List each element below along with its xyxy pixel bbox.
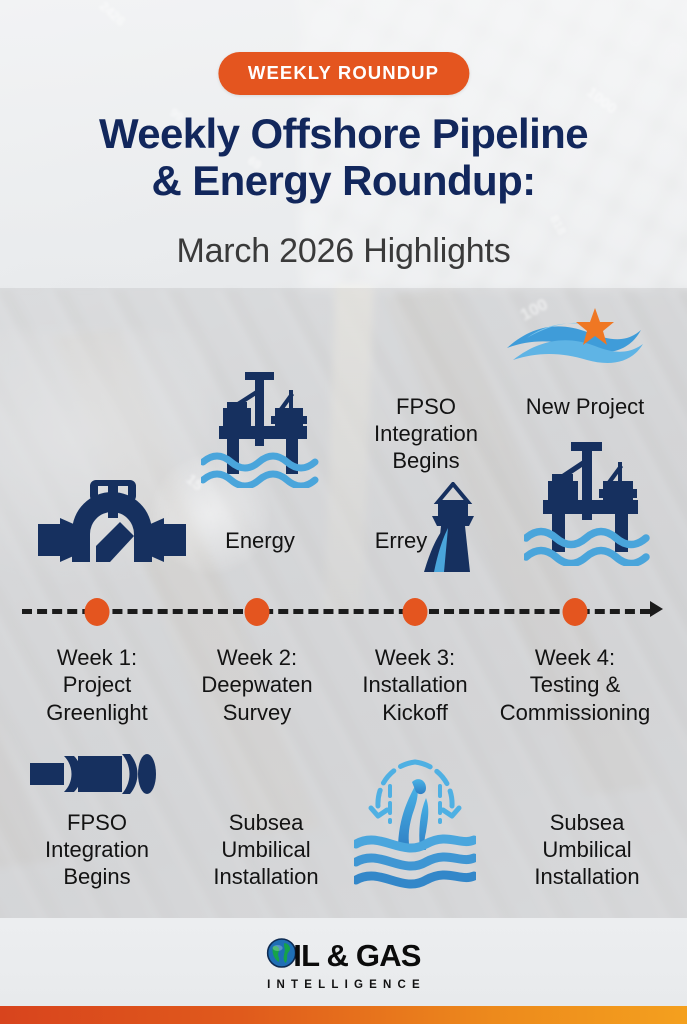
page-subtitle: March 2026 Highlights <box>0 232 687 271</box>
bottom-label-line: Subsea <box>500 810 674 837</box>
caption-fpso-line-3: Begins <box>352 448 500 475</box>
timeline-label-line: Kickoff <box>328 699 503 726</box>
bottom-row: FPSOIntegrationBeginsSubseaUmbilicalInst… <box>0 740 687 920</box>
offshore-rig-icon-2 <box>524 440 656 571</box>
timeline-label-3: Week 3:InstallationKickoff <box>328 644 503 726</box>
timeline-label-line: Deepwaten <box>170 671 345 698</box>
logo-subtext: INTELLIGENCE <box>267 979 426 991</box>
timeline-label-line: Week 3: <box>328 644 503 671</box>
pipe-section-icon <box>30 750 156 803</box>
brand-logo: IL & GAS INTELLIGENCE <box>261 938 426 991</box>
caption-fpso-integration-begins: FPSO Integration Begins <box>352 394 500 474</box>
timeline-label-line: Greenlight <box>10 699 185 726</box>
icon-stage: Energy FPSO Integration Begins Errey New… <box>0 288 687 608</box>
timeline-label-2: Week 2:DeepwatenSurvey <box>170 644 345 726</box>
infographic-poster: 10010002426996981815 WEEKLY ROUNDUP Week… <box>0 0 687 1024</box>
timeline-dot-2[interactable] <box>245 598 270 626</box>
page-title-line-1: Weekly Offshore Pipeline <box>24 110 663 157</box>
header: WEEKLY ROUNDUP Weekly Offshore Pipeline … <box>0 0 687 288</box>
caption-fpso-line-1: FPSO <box>352 394 500 421</box>
timeline-arrow-icon <box>650 601 663 617</box>
waves-starfish-icon <box>503 304 645 371</box>
caption-fpso-line-2: Integration <box>352 421 500 448</box>
timeline-dot-3[interactable] <box>403 598 428 626</box>
timeline-dashed-line <box>22 609 650 614</box>
caption-energy: Energy <box>190 528 330 555</box>
bottom-label-line: Subsea <box>179 810 353 837</box>
globe-icon <box>266 938 296 973</box>
timeline-label-line: Week 1: <box>10 644 185 671</box>
timeline-label-line: Installation <box>328 671 503 698</box>
caption-errey: Errey <box>358 528 444 555</box>
subsea-riser-waves-icon <box>354 746 476 899</box>
bottom-label-line: Umbilical <box>500 837 674 864</box>
timeline-labels: Week 1:ProjectGreenlightWeek 2:Deepwaten… <box>0 644 687 734</box>
bottom-label-4: SubseaUmbilicalInstallation <box>500 810 674 890</box>
bottom-label-line: FPSO <box>10 810 184 837</box>
footer: IL & GAS INTELLIGENCE <box>0 918 687 1006</box>
footer-accent-bar <box>0 1006 687 1024</box>
bottom-label-line: Begins <box>10 864 184 891</box>
logo-text: IL & GAS <box>293 940 420 971</box>
timeline-label-4: Week 4:Testing &Commissioning <box>488 644 663 726</box>
timeline-dot-1[interactable] <box>85 598 110 626</box>
bottom-label-line: Installation <box>500 864 674 891</box>
timeline-label-line: Commissioning <box>488 699 663 726</box>
bottom-label-1: FPSOIntegrationBegins <box>10 810 184 890</box>
timeline-label-line: Testing & <box>488 671 663 698</box>
offshore-rig-icon <box>201 370 325 493</box>
timeline-label-1: Week 1:ProjectGreenlight <box>10 644 185 726</box>
weekly-roundup-badge: WEEKLY ROUNDUP <box>218 52 469 95</box>
bottom-label-line: Umbilical <box>179 837 353 864</box>
timeline-label-line: Week 2: <box>170 644 345 671</box>
bottom-label-2: SubseaUmbilicalInstallation <box>179 810 353 890</box>
timeline-label-line: Survey <box>170 699 345 726</box>
bottom-label-line: Installation <box>179 864 353 891</box>
bottom-label-line: Integration <box>10 837 184 864</box>
page-title-line-2: & Energy Roundup: <box>24 157 663 204</box>
timeline-dot-4[interactable] <box>563 598 588 626</box>
timeline-label-line: Week 4: <box>488 644 663 671</box>
timeline-label-line: Project <box>10 671 185 698</box>
logo-row: IL & GAS <box>266 938 420 973</box>
page-title: Weekly Offshore Pipeline & Energy Roundu… <box>0 110 687 204</box>
pipeline-valve-icon <box>38 478 186 575</box>
caption-new-project: New Project <box>492 394 678 421</box>
timeline <box>0 596 687 628</box>
